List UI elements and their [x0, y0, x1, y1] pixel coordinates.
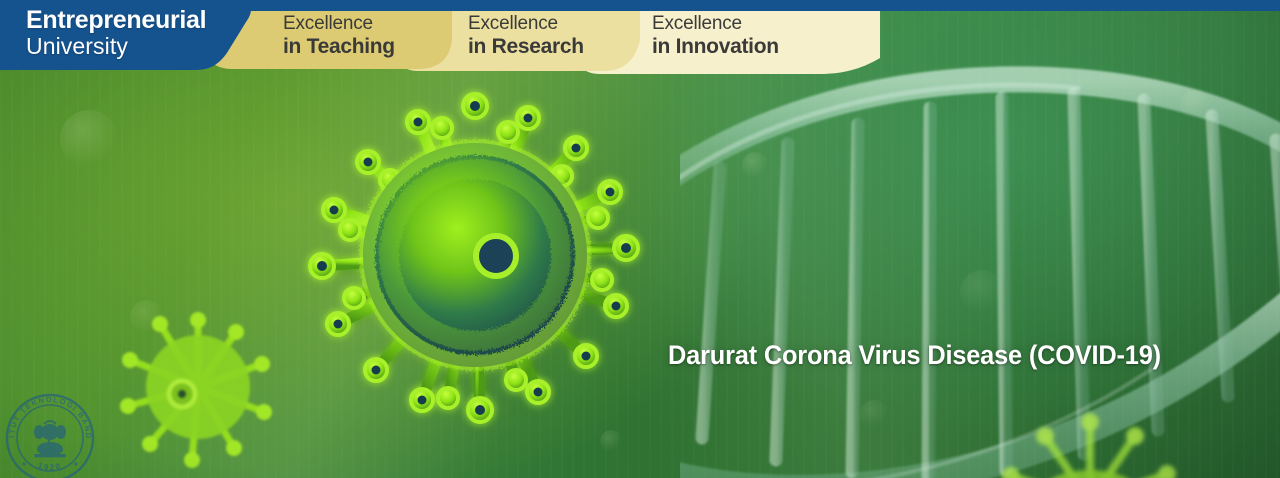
tab-excellence-in-innovation[interactable]: Excellence in Innovation	[652, 14, 779, 58]
tab-excellence-in-teaching[interactable]: Excellence in Teaching	[283, 14, 395, 58]
hero-title: Darurat Corona Virus Disease (COVID-19)	[668, 340, 1161, 371]
itb-seal-logo: INSTITUT TEKNOLOGI BANDUNG 1920	[4, 392, 96, 478]
tab-suffix: in Innovation	[652, 36, 779, 59]
tab-suffix: in Teaching	[283, 36, 395, 59]
covid-banner: INSTITUT TEKNOLOGI BANDUNG 1920	[0, 0, 1280, 478]
brand-line-2: University	[26, 35, 206, 58]
tab-prefix: Excellence	[283, 14, 395, 35]
tab-excellence-in-research[interactable]: Excellence in Research	[468, 14, 584, 58]
svg-text:1920: 1920	[37, 461, 63, 472]
tab-prefix: Excellence	[468, 14, 584, 35]
brand-line-1: Entrepreneurial	[26, 8, 206, 33]
tab-prefix: Excellence	[652, 14, 779, 35]
brand-block: Entrepreneurial University	[26, 8, 206, 58]
ganesha-emblem-icon	[34, 421, 66, 457]
seal-year: 1920	[37, 461, 63, 472]
tab-suffix: in Research	[468, 36, 584, 59]
